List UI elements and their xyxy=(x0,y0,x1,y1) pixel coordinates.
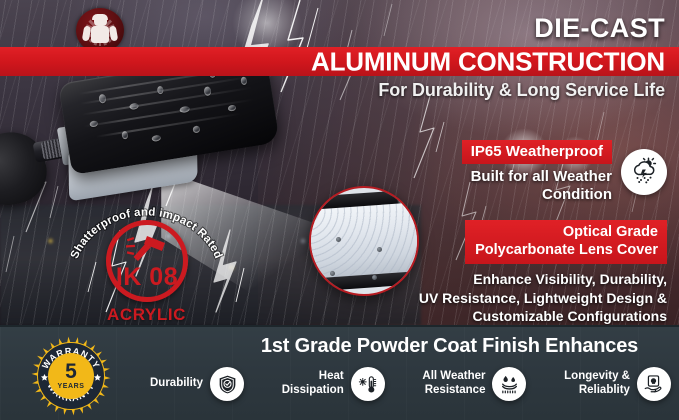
feature-label-line-2: Resistance xyxy=(422,384,485,398)
mounting-knuckle xyxy=(0,126,53,212)
feature-label: Heat Dissipation xyxy=(282,370,344,397)
ip65-subtext-line-2: Condition xyxy=(462,186,612,204)
ik08-impact-seal: Shatterproof and impact Rated IK 08 ACRY… xyxy=(64,198,229,326)
bottom-bar-title: 1st Grade Powder Coat Finish Enhances xyxy=(230,335,669,358)
feature-label-line-1: Longevity & xyxy=(564,370,630,384)
optical-grade-callout: Optical Grade Polycarbonate Lens Cover E… xyxy=(367,220,667,326)
acrylic-label-line-1: ACRYLIC xyxy=(64,306,229,325)
optical-subtext-line-3: Customizable Configurations xyxy=(367,307,667,325)
feature-label: All Weather Resistance xyxy=(422,370,485,397)
thermometer-sun-icon xyxy=(351,367,385,401)
feature-durability: Durability xyxy=(150,367,244,401)
main-headline: DIE-CAST ALUMINUM CONSTRUCTION For Durab… xyxy=(235,14,665,42)
headline-line-1: DIE-CAST xyxy=(235,14,665,42)
optical-grade-subtext: Enhance Visibility, Durability, UV Resis… xyxy=(367,270,667,325)
feature-label-line-1: Durability xyxy=(150,377,203,391)
optical-subtext-line-2: UV Resistance, Lightweight Design & xyxy=(367,289,667,307)
feature-label-line-1: All Weather xyxy=(422,370,485,384)
ip65-subtext: Built for all Weather Condition xyxy=(462,168,612,203)
optical-badge-line-2: Polycarbonate Lens Cover xyxy=(475,242,658,260)
ip65-subtext-line-1: Built for all Weather xyxy=(462,168,612,186)
feature-label: Durability xyxy=(150,377,203,391)
headline-line-3: For Durability & Long Service Life xyxy=(235,80,665,101)
hammer-impact-icon xyxy=(125,234,169,264)
headline-red-band: ALUMINUM CONSTRUCTION xyxy=(0,47,679,76)
ip65-callout: IP65 Weatherproof Built for all Weather … xyxy=(427,140,667,203)
optical-subtext-line-1: Enhance Visibility, Durability, xyxy=(367,270,667,288)
feature-label: Longevity & Reliablity xyxy=(564,370,630,397)
optical-grade-badge: Optical Grade Polycarbonate Lens Cover xyxy=(465,220,667,264)
feature-all-weather-resistance: All Weather Resistance xyxy=(422,367,526,401)
warranty-number: 5 xyxy=(65,362,77,382)
warranty-seal: WARRANTY WARRANTY 5 YEARS xyxy=(31,336,111,416)
ip65-badge: IP65 Weatherproof xyxy=(462,140,612,164)
ik08-rating-label: IK 08 xyxy=(111,265,183,290)
warranty-center: 5 YEARS xyxy=(48,353,94,399)
bottom-feature-list: Durability Heat Dissipation xyxy=(150,367,671,401)
water-drop-shield-icon xyxy=(492,367,526,401)
feature-longevity-reliability: Longevity & Reliablity xyxy=(564,367,671,401)
headline-line-2: ALUMINUM CONSTRUCTION xyxy=(311,46,665,77)
hand-holding-bulb-icon xyxy=(637,367,671,401)
sun-cloud-rain-icon xyxy=(621,149,667,195)
product-marketing-poster: RuggedGrade xyxy=(0,0,679,420)
feature-label-line-2: Reliablity xyxy=(564,384,630,398)
feature-heat-dissipation: Heat Dissipation xyxy=(282,367,385,401)
ik08-rating-circle: IK 08 xyxy=(106,220,188,302)
feature-label-line-1: Heat xyxy=(282,370,344,384)
optical-badge-line-1: Optical Grade xyxy=(475,224,658,242)
shield-check-icon xyxy=(210,367,244,401)
feature-label-line-2: Dissipation xyxy=(282,384,344,398)
warranty-unit: YEARS xyxy=(57,383,84,390)
